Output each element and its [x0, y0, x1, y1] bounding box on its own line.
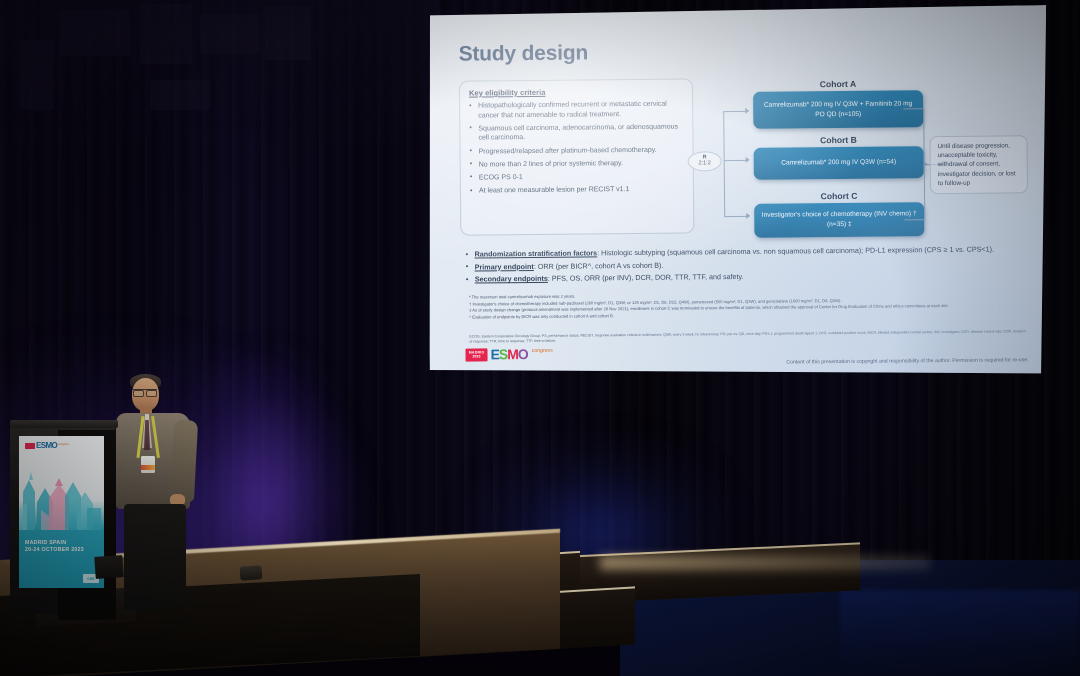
esmo-logo: MADRID 2023 E S M O congress — [465, 348, 552, 362]
stage-edge-glow — [600, 556, 930, 570]
endpoint-text: : PFS, OS, ORR (per INV), DCR, DOR, TTR,… — [548, 272, 744, 283]
year-label: 2023 — [473, 355, 481, 359]
banner-esmo-logo: ESMO congress — [25, 443, 69, 449]
endpoint-text: : ORR (per BICR^, cohort A vs cohort B). — [534, 260, 664, 270]
list-item: Progressed/relapsed after platinum-based… — [470, 145, 684, 157]
madrid-2023-badge: MADRID 2023 — [465, 348, 487, 361]
randomization-node: R 2:1:2 — [688, 151, 722, 171]
laptop-on-podium — [94, 555, 123, 579]
banner-madrid-badge — [25, 443, 35, 449]
list-item: ECOG PS 0-1 — [470, 171, 684, 183]
connector-out-a — [923, 108, 925, 166]
madrid-skyline-graphic — [19, 458, 104, 530]
connector-spine — [723, 111, 725, 216]
list-item: Squamous cell carcinoma, adenocarcinoma,… — [469, 122, 683, 143]
endpoint-key: Primary endpoint — [475, 262, 534, 272]
connector-tap-a — [903, 108, 924, 109]
outcome-box: Until disease progression, unacceptable … — [929, 135, 1028, 194]
arrow-icon — [924, 161, 928, 167]
arrow-icon — [746, 213, 750, 219]
name-badge-stripe — [141, 465, 155, 470]
list-item: At least one measurable lesion per RECIS… — [470, 185, 684, 197]
endpoint-text: : Histologic subtyping (squamous cell ca… — [597, 245, 994, 258]
list-item: No more than 2 lines of prior systemic t… — [470, 158, 684, 170]
arrow-icon — [746, 157, 750, 163]
banner-esmo-wordmark: ESMO — [36, 443, 57, 449]
esmo-letter-s: S — [499, 349, 507, 361]
cohort-b-label: Cohort B — [753, 134, 923, 146]
connector-branch-c — [724, 216, 748, 217]
banner-event-details: MADRID SPAIN 20-24 OCTOBER 2023 — [25, 540, 84, 553]
list-item: Histopathologically confirmed recurrent … — [469, 100, 683, 121]
podium-top-surface — [10, 420, 118, 428]
presentation-slide: Study design Key eligibility criteria Hi… — [440, 13, 1039, 371]
stage-monitor — [240, 565, 263, 581]
abbreviations-text: ECOG, Eastern Cooperative Oncology Group… — [469, 329, 1029, 345]
banner-congress-label: congress — [58, 443, 69, 446]
projection-screen: Study design Key eligibility criteria Hi… — [426, 5, 1050, 383]
copyright-notice: Content of this presentation is copyrigh… — [744, 357, 1029, 366]
ceiling-rigging — [0, 0, 440, 150]
speaker-arm — [170, 419, 198, 502]
cohort-c-label: Cohort C — [754, 190, 924, 202]
connector-branch-b — [724, 160, 748, 161]
cohort-a-box: Camrelizumab* 200 mg IV Q3W + Famitinib … — [753, 90, 923, 129]
eligibility-heading: Key eligibility criteria — [469, 87, 683, 98]
arrow-icon — [745, 108, 749, 114]
cohort-b-box: Camrelizumab* 200 mg IV Q3W (n=54) — [754, 146, 924, 180]
cohort-c-box: Investigator's choice of chemotherapy (I… — [754, 202, 924, 238]
banner-dates: 20-24 OCTOBER 2023 — [25, 547, 84, 554]
congress-label: congress — [532, 348, 553, 354]
endpoints-list: Randomization stratification factors: Hi… — [465, 244, 1025, 288]
esmo-letter-e: E — [490, 349, 498, 361]
endpoint-secondary: Secondary endpoints: PFS, OS, ORR (per I… — [465, 270, 1025, 285]
speaker-trousers — [124, 504, 186, 610]
podium-banner: ESMO congress MADRID SPAIN 20-24 OCTOBER… — [19, 436, 104, 588]
endpoint-key: Randomization stratification factors — [475, 248, 598, 258]
footnotes: * The maximum total camrelizumab exposur… — [469, 289, 1025, 321]
eligibility-criteria-box: Key eligibility criteria Histopathologic… — [459, 78, 694, 235]
esmo-letter-m: M — [507, 349, 518, 361]
randomization-ratio: 2:1:2 — [698, 161, 711, 167]
speaker-person — [110, 372, 218, 610]
esmo-wordmark: E S M O — [490, 349, 527, 361]
floor-blue-light-2 — [840, 590, 1080, 676]
glasses-icon — [133, 389, 157, 394]
connector-branch-a — [723, 111, 747, 112]
connector-out-c — [924, 164, 926, 219]
eligibility-list: Histopathologically confirmed recurrent … — [469, 100, 684, 197]
slide-title: Study design — [459, 41, 589, 66]
endpoint-key: Secondary endpoints — [475, 274, 548, 284]
esmo-letter-o: O — [518, 349, 528, 361]
cohort-a-label: Cohort A — [753, 78, 923, 90]
connector-tap-c — [904, 219, 925, 220]
